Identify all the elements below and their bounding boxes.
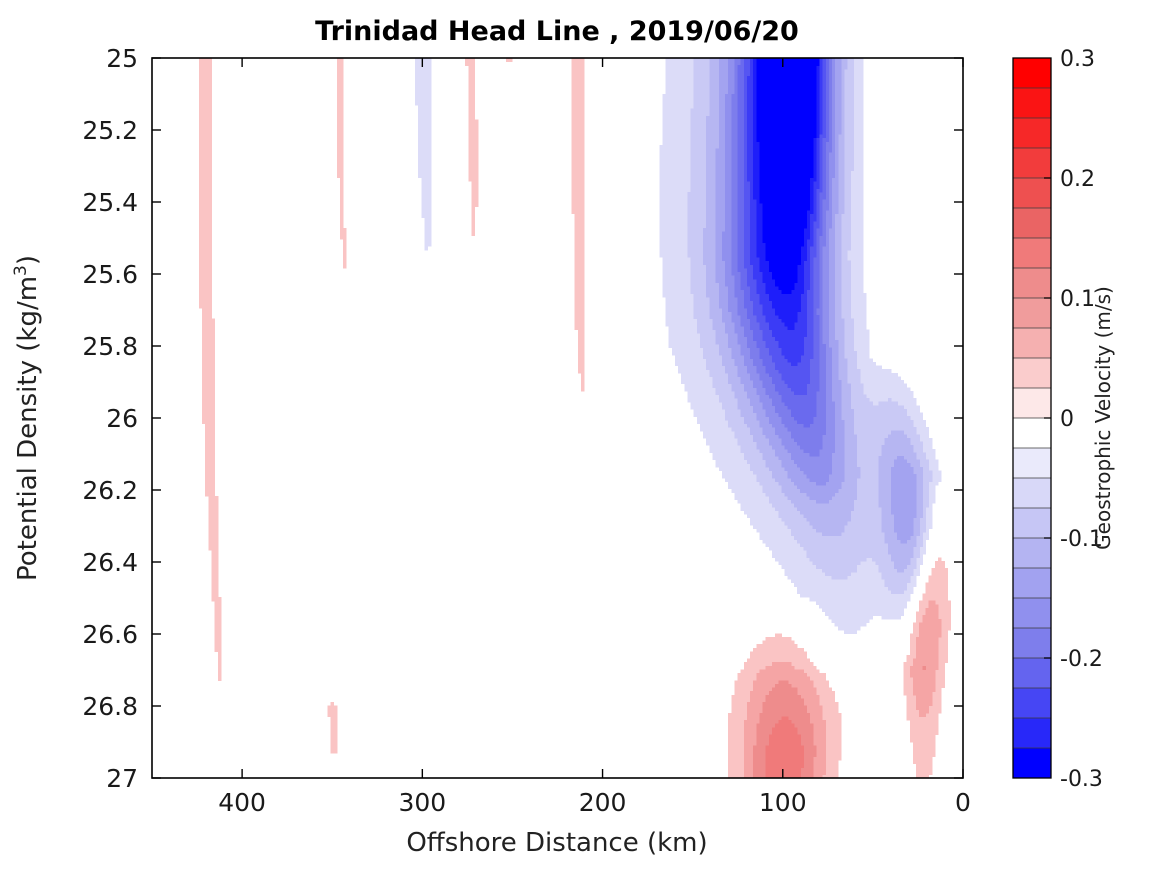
colorbar-band <box>1013 508 1051 538</box>
y-tick-label: 26.8 <box>82 692 138 721</box>
colorbar-band <box>1013 658 1051 688</box>
colorbar-band <box>1013 298 1051 328</box>
colorbar-tick-label: 0.3 <box>1060 47 1095 72</box>
y-tick-label: 25.4 <box>82 188 138 217</box>
colorbar-band <box>1013 208 1051 238</box>
x-tick-label: 0 <box>955 788 971 817</box>
y-tick-label: 25.6 <box>82 260 138 289</box>
y-axis-label-exponent: 3 <box>11 265 31 276</box>
colorbar-band <box>1013 358 1051 388</box>
y-tick-label: 27 <box>106 764 138 793</box>
page-title: Trinidad Head Line , 2019/06/20 <box>315 16 799 47</box>
colorbar-band <box>1013 598 1051 628</box>
x-tick-label: 100 <box>759 788 807 817</box>
y-tick-label: 25.2 <box>82 116 138 145</box>
x-axis-label: Offshore Distance (km) <box>406 828 707 858</box>
colorbar-label: Geostrophic Velocity (m/s) <box>1091 286 1115 550</box>
colorbar-band <box>1013 88 1051 118</box>
colorbar-tick-label: 0.2 <box>1060 167 1095 192</box>
colorbar-band <box>1013 328 1051 358</box>
colorbar-band <box>1013 448 1051 478</box>
y-tick-label: 26.2 <box>82 476 138 505</box>
colorbar-band <box>1013 388 1051 418</box>
colorbar-band <box>1013 748 1051 778</box>
y-tick-label: 25.8 <box>82 332 138 361</box>
colorbar-tick-label: 0.1 <box>1060 287 1095 312</box>
colorbar-band <box>1013 478 1051 508</box>
contour-figure: Trinidad Head Line , 2019/06/20 40030020… <box>0 0 1167 875</box>
colorbar-band <box>1013 148 1051 178</box>
y-axis-label-tail: ) <box>13 255 43 265</box>
colorbar-band <box>1013 628 1051 658</box>
colorbar-band <box>1013 418 1051 448</box>
colorbar-tick-label: -0.2 <box>1060 647 1103 672</box>
x-tick-label: 400 <box>218 788 266 817</box>
y-tick-label: 26 <box>106 404 138 433</box>
y-tick-label: 25 <box>106 44 138 73</box>
colorbar-band <box>1013 118 1051 148</box>
colorbar-band <box>1013 538 1051 568</box>
y-axis-label-main: Potential Density (kg/m <box>13 276 43 581</box>
y-tick-label: 26.6 <box>82 620 138 649</box>
x-tick-label: 300 <box>398 788 446 817</box>
colorbar-band <box>1013 568 1051 598</box>
colorbar-band <box>1013 688 1051 718</box>
y-tick-label: 26.4 <box>82 548 138 577</box>
colorbar-band <box>1013 268 1051 298</box>
colorbar-tick-label: 0 <box>1060 407 1074 432</box>
y-axis-label: Potential Density (kg/m3) <box>11 255 43 581</box>
colorbar-tick-label: -0.3 <box>1060 767 1103 792</box>
colorbar-band <box>1013 718 1051 748</box>
x-tick-label: 200 <box>579 788 627 817</box>
svg-text:Potential Density (kg/m3): Potential Density (kg/m3) <box>11 255 43 581</box>
colorbar-band <box>1013 238 1051 268</box>
colorbar-band <box>1013 58 1051 88</box>
colorbar-band <box>1013 178 1051 208</box>
